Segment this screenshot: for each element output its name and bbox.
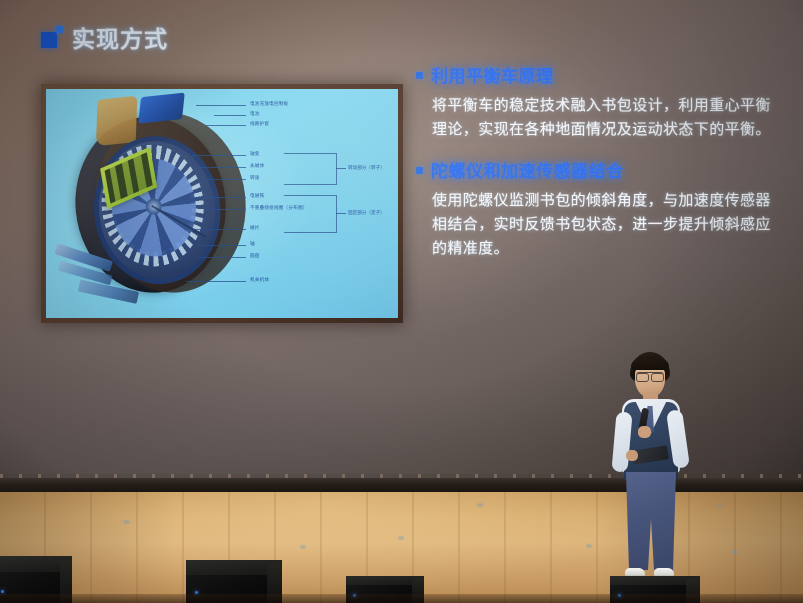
presenter-figure <box>596 352 706 584</box>
glasses-icon <box>636 372 664 380</box>
stage-photo-scene: 实现方式 <box>0 0 803 603</box>
presenter-hand <box>638 426 651 438</box>
presenter-fringe <box>631 356 669 370</box>
presenter-trousers <box>626 472 676 570</box>
presenter-hand <box>626 450 638 461</box>
stage-front-lip <box>0 594 803 603</box>
